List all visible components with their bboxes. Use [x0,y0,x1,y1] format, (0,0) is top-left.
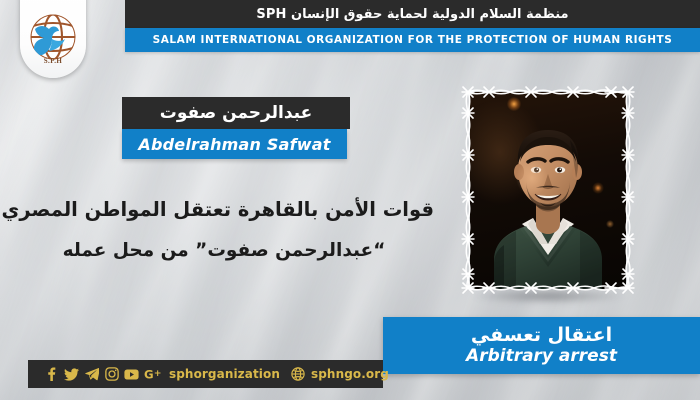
svg-text:G: G [144,368,154,382]
barbed-wire-frame-icon [460,84,636,296]
youtube-icon[interactable] [124,367,139,382]
organization-logo: S.P.H [20,0,86,78]
social-handle[interactable]: sphorganization [169,367,280,381]
body-line-1: قوات الأمن بالقاهرة تعتقل المواطن المصري [14,200,434,220]
social-icons-group: G + [44,367,162,382]
name-banner-english: Abdelrahman Safwat [122,129,347,159]
twitter-icon[interactable] [64,367,79,382]
website-url[interactable]: sphngo.org [311,367,389,381]
header-arabic-title: منظمة السلام الدولية لحماية حقوق الإنسان… [256,7,568,22]
instagram-icon[interactable] [104,367,119,382]
googleplus-icon[interactable]: G + [144,367,162,382]
facebook-icon[interactable] [44,367,59,382]
body-text-block: قوات الأمن بالقاهرة تعتقل المواطن المصري… [14,200,434,260]
svg-text:+: + [154,369,162,379]
header-english-title: SALAM INTERNATIONAL ORGANIZATION FOR THE… [153,34,673,46]
poster-canvas: S.P.H منظمة السلام الدولية لحماية حقوق ا… [0,0,700,400]
status-badge-english: Arbitrary arrest [466,347,617,367]
dove-globe-icon [28,12,78,62]
header-arabic-bar: منظمة السلام الدولية لحماية حقوق الإنسان… [125,0,700,28]
social-footer-bar: G + sphorganization sphngo.org [28,360,383,388]
header-english-bar: SALAM INTERNATIONAL ORGANIZATION FOR THE… [125,28,700,52]
status-badge-arabic: اعتقال تعسفي [471,325,612,346]
globe-icon [291,367,305,381]
logo-initials: S.P.H [20,57,86,65]
telegram-icon[interactable] [84,367,99,382]
subject-arabic-name: عبدالرحمن صفوت [160,103,312,123]
subject-english-name: Abdelrahman Safwat [138,135,330,154]
portrait-container [460,84,636,296]
body-line-2: “عبدالرحمن صفوت” من محل عمله [14,242,434,261]
name-banner-arabic: عبدالرحمن صفوت [122,97,350,129]
status-banner: اعتقال تعسفي Arbitrary arrest [383,317,700,374]
